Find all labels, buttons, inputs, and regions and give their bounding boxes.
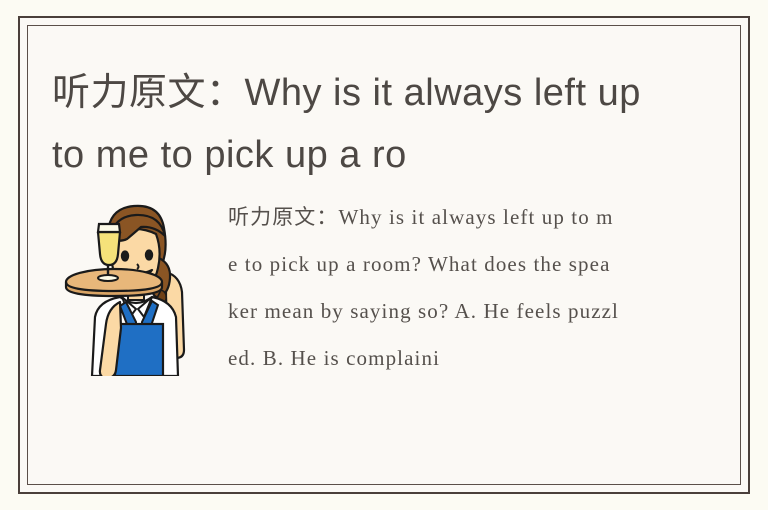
article-excerpt: 听力原文：Why is it always left up to me to p… [228, 194, 620, 382]
article-preview: 听力原文：Why is it always left up to me to p… [28, 194, 740, 484]
waitress-illustration [62, 198, 198, 376]
page-title: 听力原文：Why is it always left up to me to p… [52, 62, 652, 186]
article-thumbnail[interactable] [62, 198, 198, 376]
card-content: 听力原文：Why is it always left up to me to p… [28, 26, 740, 484]
page-root: 听力原文：Why is it always left up to me to p… [0, 0, 768, 510]
